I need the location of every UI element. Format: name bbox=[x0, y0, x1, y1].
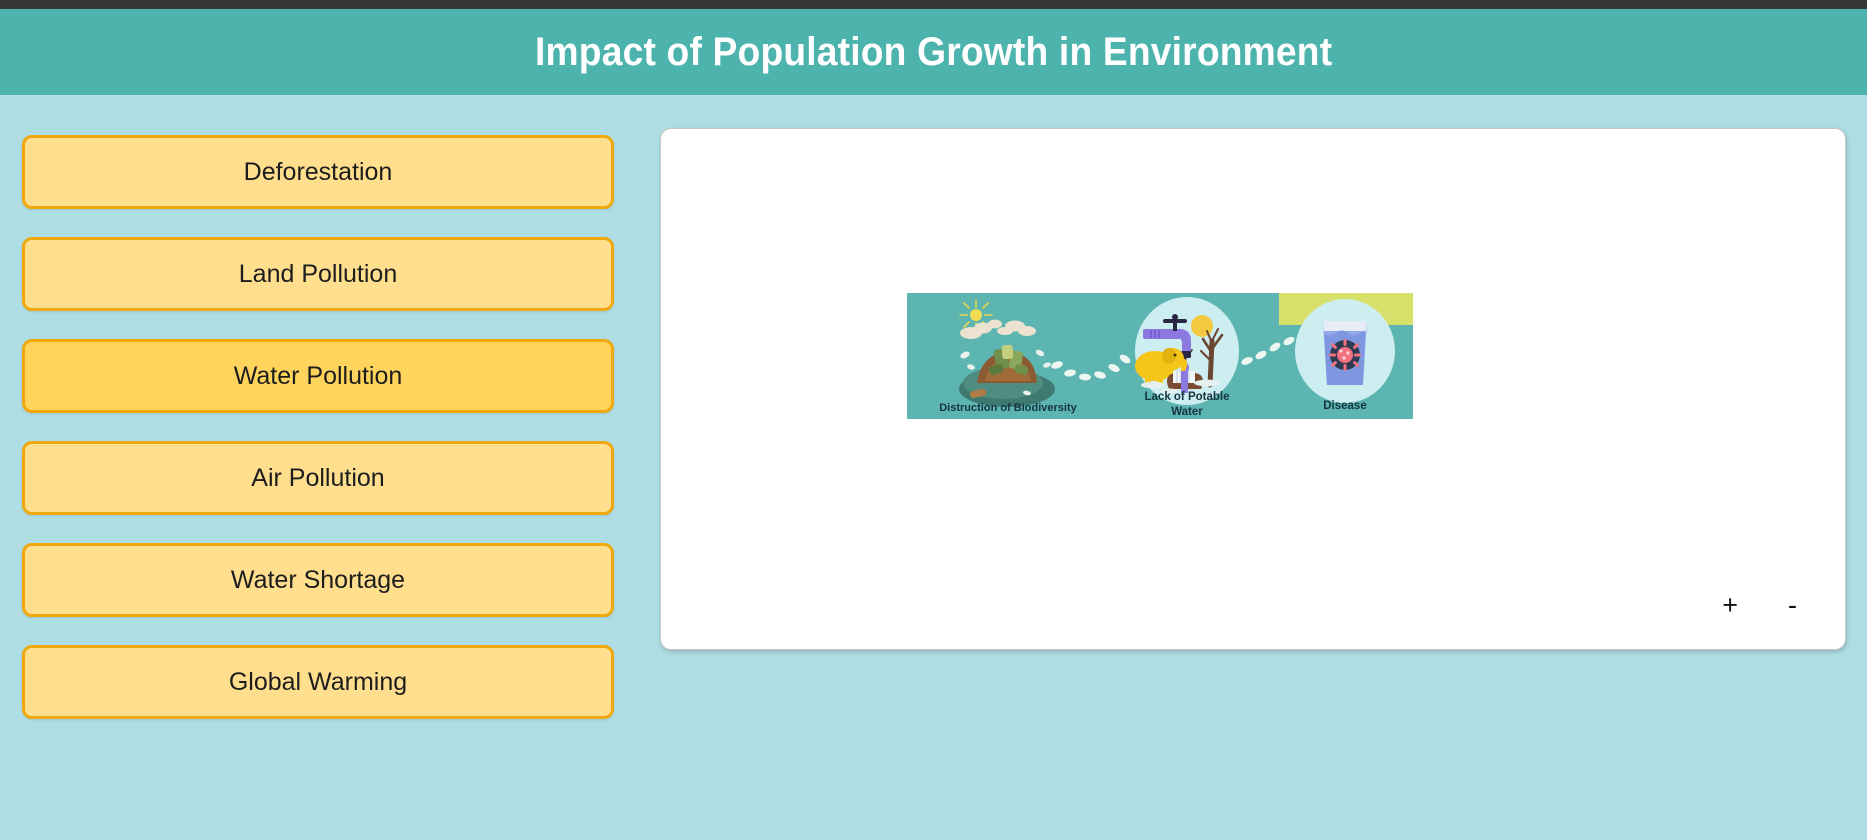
caption-potable-water-line2: Water bbox=[1171, 406, 1203, 418]
topic-sidebar: Deforestation Land Pollution Water Pollu… bbox=[22, 135, 614, 719]
sidebar-item-deforestation[interactable]: Deforestation bbox=[22, 135, 614, 209]
sidebar-item-air-pollution[interactable]: Air Pollution bbox=[22, 441, 614, 515]
app-header: Impact of Population Growth in Environme… bbox=[0, 9, 1867, 95]
sidebar-item-land-pollution[interactable]: Land Pollution bbox=[22, 237, 614, 311]
page-title: Impact of Population Growth in Environme… bbox=[535, 30, 1332, 75]
sidebar-item-global-warming[interactable]: Global Warming bbox=[22, 645, 614, 719]
caption-potable-water-line1: Lack of Potable bbox=[1145, 391, 1230, 403]
stage-potable-water-art bbox=[1135, 297, 1239, 405]
zoom-controls: + - bbox=[1716, 590, 1803, 621]
page-body: Deforestation Land Pollution Water Pollu… bbox=[0, 95, 1867, 840]
sidebar-item-water-shortage[interactable]: Water Shortage bbox=[22, 543, 614, 617]
caption-disease: Disease bbox=[1323, 400, 1366, 412]
water-pollution-infographic: Distruction of Biodiversity Lack of Pota… bbox=[907, 293, 1413, 419]
content-card: Distruction of Biodiversity Lack of Pota… bbox=[660, 128, 1846, 650]
window-chrome-strip bbox=[0, 0, 1867, 9]
stage-disease-art bbox=[1295, 299, 1395, 403]
zoom-out-button[interactable]: - bbox=[1782, 590, 1803, 621]
sidebar-item-water-pollution[interactable]: Water Pollution bbox=[22, 339, 614, 413]
infographic-illustration: Distruction of Biodiversity Lack of Pota… bbox=[907, 293, 1413, 419]
zoom-in-button[interactable]: + bbox=[1716, 590, 1744, 621]
caption-biodiversity: Distruction of Biodiversity bbox=[939, 402, 1077, 414]
